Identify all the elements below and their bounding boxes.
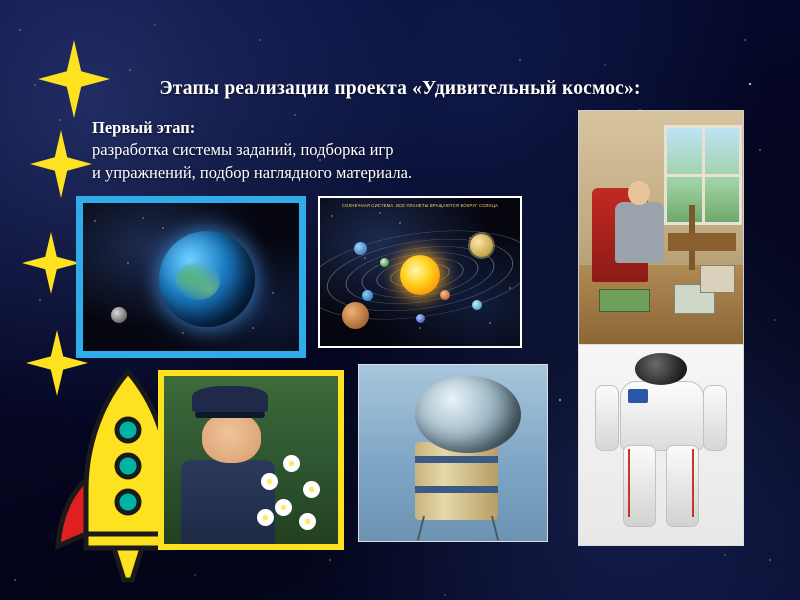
photo-space [76, 196, 306, 358]
flower-1 [261, 473, 278, 490]
planet-mars [440, 290, 450, 300]
earth-globe [159, 231, 255, 327]
room-books [599, 289, 650, 312]
spacesuit-arm-right [703, 385, 726, 451]
flower-2 [283, 455, 300, 472]
spacesuit-red-line-left [628, 449, 630, 517]
spacesuit-arm-left [595, 385, 618, 451]
solar-system-header: СОЛНЕЧНАЯ СИСТЕМА. ВСЕ ПЛАНЕТЫ ВРАЩАЮТСЯ… [326, 203, 514, 208]
photo-capsule [358, 364, 548, 542]
photo-gagarin [158, 370, 344, 550]
flower-3 [303, 481, 320, 498]
capsule-descent-sphere [415, 376, 520, 453]
planet-mercury [380, 258, 389, 267]
planet-venus [354, 242, 367, 255]
gagarin-face [202, 413, 261, 463]
gagarin-cap [192, 386, 269, 413]
spacesuit-helmet [635, 353, 687, 385]
stage-line-1: разработка системы заданий, подборка игр [92, 140, 393, 159]
photo-spacesuit [578, 344, 744, 546]
flower-5 [299, 513, 316, 530]
planet-saturn [470, 234, 493, 257]
corner-dot: . [748, 72, 752, 90]
room-window [664, 125, 742, 225]
page-title: Этапы реализации проекта «Удивительный к… [120, 78, 680, 100]
stage-label: Первый этап: [92, 118, 195, 137]
sun-icon [400, 255, 440, 295]
stage-line-2: и упражнений, подбор наглядного материал… [92, 163, 412, 182]
capsule-stripe-1 [415, 456, 498, 463]
flower-6 [257, 509, 274, 526]
flower-4 [275, 499, 292, 516]
spacesuit-red-line-right [692, 449, 694, 517]
moon-icon [111, 307, 127, 323]
planet-uranus [472, 300, 482, 310]
capsule-stripe-2 [415, 486, 498, 493]
person-body [615, 202, 664, 263]
stage-description: Первый этап: разработка системы заданий,… [92, 117, 572, 184]
room-desk [668, 233, 737, 252]
planet-jupiter [342, 302, 369, 329]
planet-earth [362, 290, 373, 301]
flower-bouquet [255, 447, 335, 541]
spacesuit-flag-patch [628, 389, 648, 403]
photo-solar-system: СОЛНЕЧНАЯ СИСТЕМА. ВСЕ ПЛАНЕТЫ ВРАЩАЮТСЯ… [318, 196, 522, 348]
photo-grandpa-room [578, 110, 744, 346]
slide: Этапы реализации проекта «Удивительный к… [0, 0, 800, 600]
planet-neptune [416, 314, 425, 323]
room-box-2 [700, 265, 735, 293]
person-head [628, 181, 649, 204]
capsule-body [415, 442, 498, 519]
